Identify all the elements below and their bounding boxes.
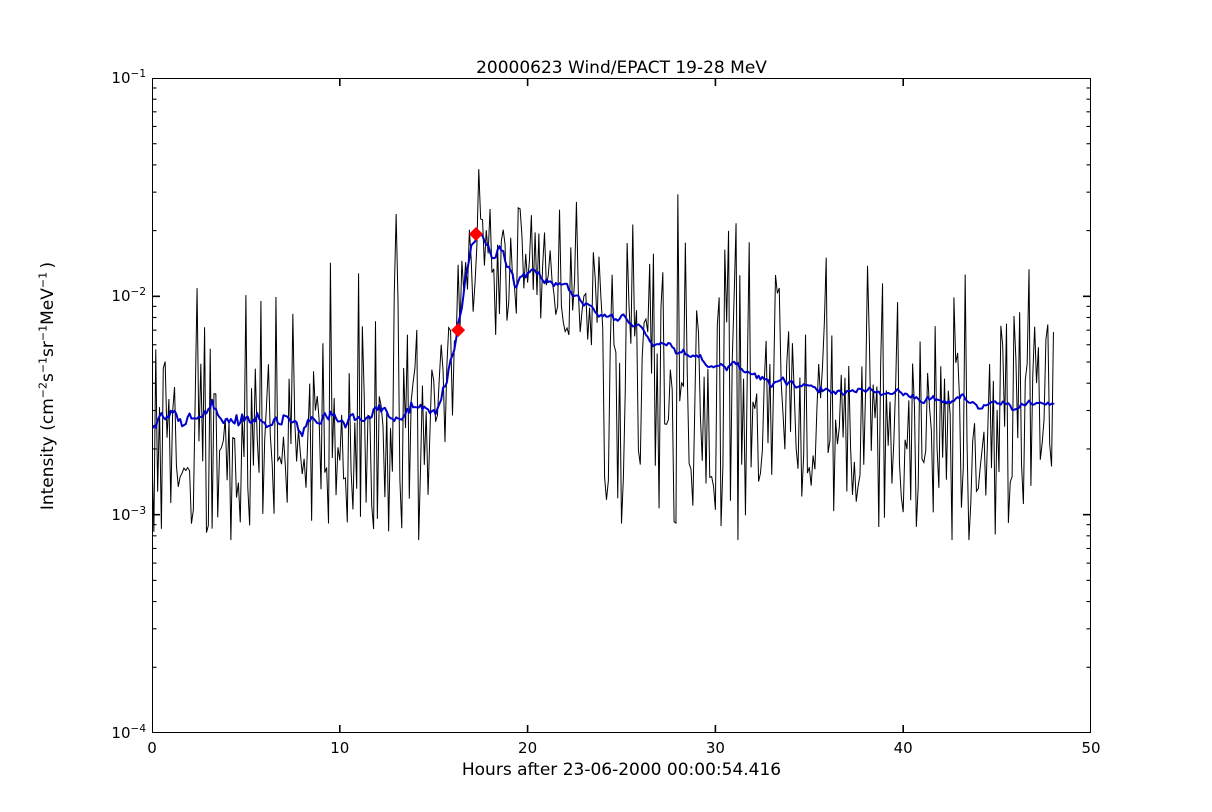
page-title: 20000623 Wind/EPACT 19-28 MeV bbox=[152, 58, 1091, 78]
x-tick-label: 40 bbox=[894, 739, 913, 757]
y-axis-label: Intensity (cm−2s−1sr−1MeV−1 ) bbox=[38, 86, 58, 686]
plot-axes-area bbox=[152, 78, 1091, 733]
axes-frame bbox=[152, 78, 1091, 733]
y-axis-exp-cm: −2 bbox=[36, 382, 49, 398]
y-axis-label-text: Intensity (cm bbox=[38, 398, 58, 510]
x-tick-label: 20 bbox=[518, 739, 537, 757]
y-axis-label-container: Intensity (cm−2s−1sr−1MeV−1 ) bbox=[0, 78, 60, 733]
y-axis-tick-labels: 10−110−210−310−4 bbox=[96, 78, 146, 733]
y-axis-exp-s: −1 bbox=[36, 357, 49, 373]
y-tick-label: 10−2 bbox=[111, 287, 146, 305]
y-axis-exp-sr: −1 bbox=[36, 325, 49, 341]
x-tick-label: 10 bbox=[330, 739, 349, 757]
x-tick-label: 50 bbox=[1081, 739, 1100, 757]
x-tick-label: 0 bbox=[147, 739, 157, 757]
y-axis-exp-mev: −1 bbox=[36, 272, 49, 288]
x-tick-label: 30 bbox=[706, 739, 725, 757]
figure-canvas: 20000623 Wind/EPACT 19-28 MeV Intensity … bbox=[0, 0, 1212, 812]
y-tick-label: 10−1 bbox=[111, 69, 146, 87]
y-tick-label: 10−3 bbox=[111, 506, 146, 524]
y-tick-label: 10−4 bbox=[111, 724, 146, 742]
x-axis-label: Hours after 23-06-2000 00:00:54.416 bbox=[152, 760, 1091, 780]
